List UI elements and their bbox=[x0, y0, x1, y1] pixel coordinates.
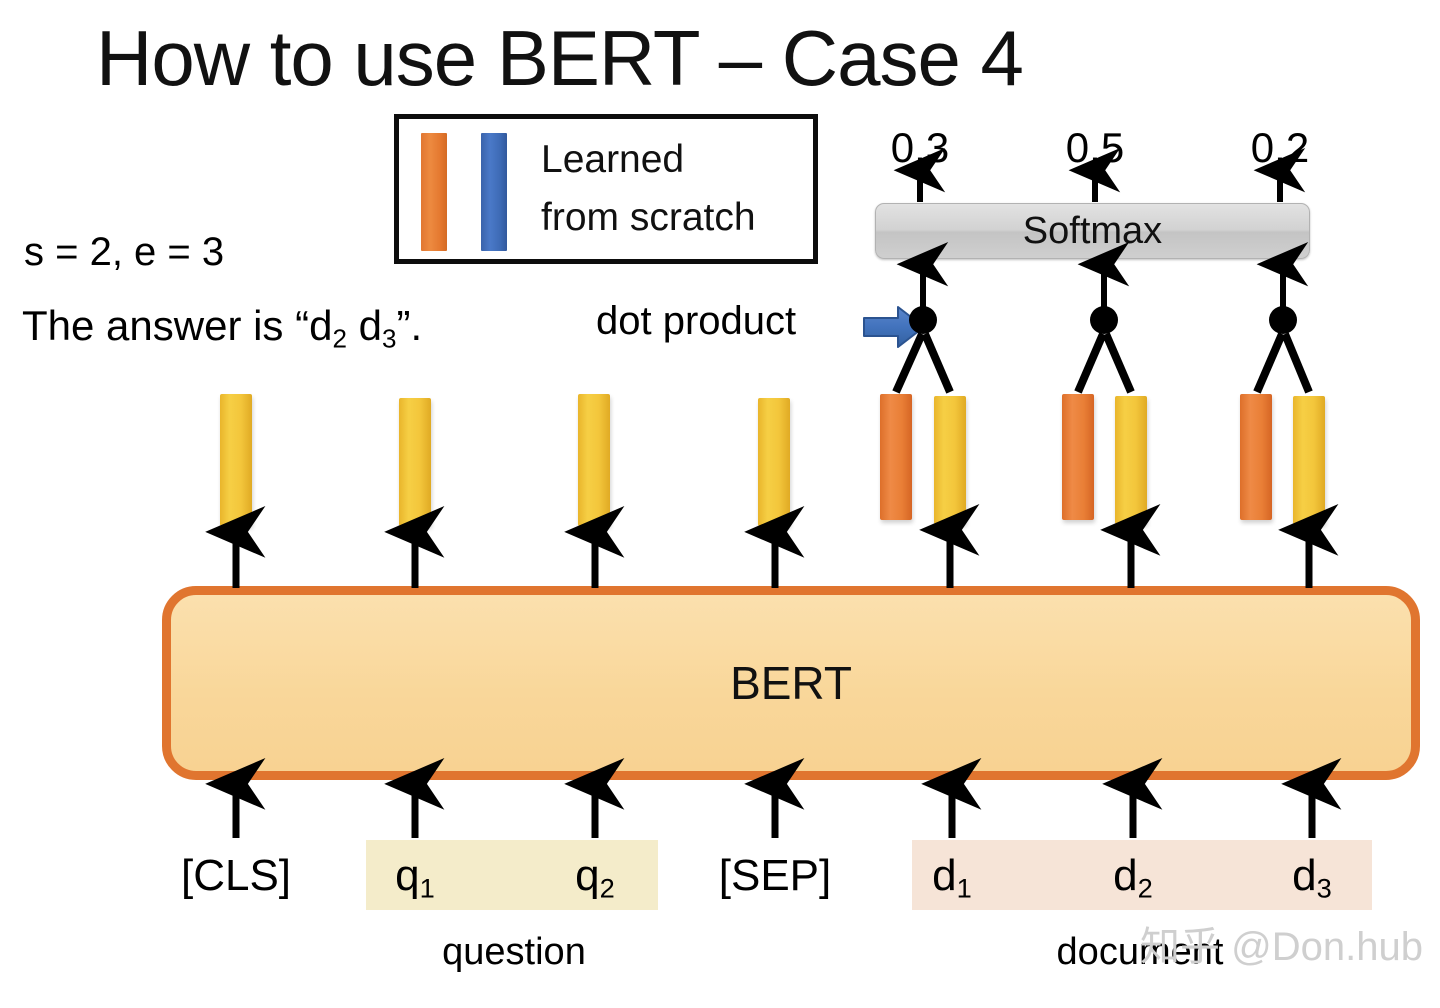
output-vector-d2 bbox=[1115, 396, 1147, 524]
output-vector-q1 bbox=[399, 398, 431, 526]
token-sep-label: [SEP] bbox=[719, 851, 832, 900]
answer-prefix: The answer is “d bbox=[22, 302, 332, 349]
legend-label-line2: from scratch bbox=[541, 189, 811, 247]
dot-product-node-d2 bbox=[1090, 306, 1118, 334]
token-q1: q1 bbox=[325, 848, 505, 917]
token-d1-sub: 1 bbox=[957, 873, 972, 904]
token-cls-label: [CLS] bbox=[181, 851, 291, 900]
learned-vector-d3 bbox=[1240, 394, 1272, 520]
token-q1-label: q bbox=[395, 851, 419, 900]
softmax-output-0: 0.3 bbox=[875, 124, 965, 172]
start-end-index-text: s = 2, e = 3 bbox=[24, 228, 224, 276]
output-vector-d3 bbox=[1293, 396, 1325, 524]
token-d2-label: d bbox=[1113, 851, 1137, 900]
legend-orange-bar-icon bbox=[421, 133, 447, 251]
bert-box: BERT bbox=[162, 586, 1420, 780]
output-vector-d1 bbox=[934, 396, 966, 524]
token-cls: [CLS] bbox=[146, 848, 326, 904]
softmax-output-2: 0.2 bbox=[1235, 124, 1325, 172]
legend-blue-bar-icon bbox=[481, 133, 507, 251]
watermark: 知乎 @Don.hub bbox=[1140, 922, 1423, 972]
token-sep: [SEP] bbox=[685, 848, 865, 904]
token-q2-sub: 2 bbox=[600, 873, 615, 904]
bert-label: BERT bbox=[730, 656, 852, 710]
softmax-output-1: 0.5 bbox=[1050, 124, 1140, 172]
token-d1: d1 bbox=[862, 848, 1042, 917]
token-q2-label: q bbox=[575, 851, 599, 900]
answer-suffix: ”. bbox=[396, 302, 422, 349]
learned-vector-d2 bbox=[1062, 394, 1094, 520]
learned-vector-d1 bbox=[880, 394, 912, 520]
dot-product-node-d3 bbox=[1269, 306, 1297, 334]
token-q1-sub: 1 bbox=[420, 873, 435, 904]
answer-text: The answer is “d2 d3”. bbox=[22, 300, 422, 364]
page-title: How to use BERT – Case 4 bbox=[96, 14, 1023, 102]
token-d3: d3 bbox=[1222, 848, 1402, 917]
blue-block-arrow-icon bbox=[862, 305, 926, 349]
token-d1-label: d bbox=[932, 851, 956, 900]
token-d2-sub: 2 bbox=[1138, 873, 1153, 904]
dot-product-label: dot product bbox=[596, 298, 796, 344]
legend-label: Learned from scratch bbox=[541, 131, 811, 247]
output-vector-cls bbox=[220, 394, 252, 526]
token-d3-label: d bbox=[1292, 851, 1316, 900]
answer-subscript-2: 3 bbox=[382, 323, 396, 353]
softmax-label: Softmax bbox=[1023, 210, 1162, 253]
token-d2: d2 bbox=[1043, 848, 1223, 917]
output-vector-q2 bbox=[578, 394, 610, 526]
softmax-box: Softmax bbox=[875, 203, 1310, 259]
token-q2: q2 bbox=[505, 848, 685, 917]
legend-label-line1: Learned bbox=[541, 131, 811, 189]
output-vector-sep bbox=[758, 398, 790, 526]
legend-box: Learned from scratch bbox=[394, 114, 818, 264]
token-d3-sub: 3 bbox=[1317, 873, 1332, 904]
answer-mid: d bbox=[347, 302, 382, 349]
caption-question: question bbox=[364, 928, 664, 976]
answer-subscript-1: 2 bbox=[332, 323, 346, 353]
